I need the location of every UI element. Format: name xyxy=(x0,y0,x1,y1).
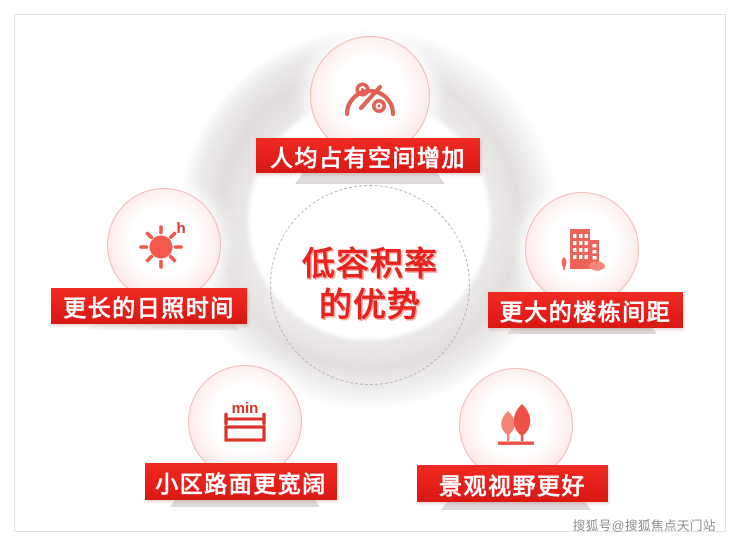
bubble-bottom-left: min xyxy=(188,365,302,479)
percent-gauge-icon xyxy=(339,65,401,127)
banner-left[interactable]: 更长的日照时间 xyxy=(51,288,247,324)
banner-left-label: 更长的日照时间 xyxy=(63,289,235,323)
road-width-min-icon-text: min xyxy=(232,400,259,417)
sun-hours-icon-text: h xyxy=(177,220,186,237)
buildings-icon xyxy=(551,218,613,280)
banner-bottom-right[interactable]: 景观视野更好 xyxy=(417,465,608,502)
banner-bottom-right-label: 景观视野更好 xyxy=(439,467,586,501)
infographic-canvas: 低容积率 的优势 人均占有空间增加 xyxy=(0,0,740,547)
banner-right-label: 更大的楼栋间距 xyxy=(500,293,672,327)
road-width-min-icon: min xyxy=(214,391,276,453)
banner-bottom-left[interactable]: 小区路面更宽阔 xyxy=(145,463,337,500)
banner-top[interactable]: 人均占有空间增加 xyxy=(256,138,480,173)
banner-top-label: 人均占有空间增加 xyxy=(270,139,466,173)
center-title-line1: 低容积率 xyxy=(302,246,438,283)
center-title: 低容积率 的优势 xyxy=(270,185,470,385)
bubble-left: h xyxy=(107,188,221,302)
banner-bottom-left-label: 小区路面更宽阔 xyxy=(155,465,327,499)
banner-right[interactable]: 更大的楼栋间距 xyxy=(488,292,683,328)
trees-landscape-icon xyxy=(485,394,547,456)
bubble-right xyxy=(525,192,639,306)
sun-hours-icon: h xyxy=(133,214,195,276)
watermark: 搜狐号@搜狐焦点天门站 xyxy=(573,515,716,534)
center-title-line2: 的优势 xyxy=(319,287,421,324)
